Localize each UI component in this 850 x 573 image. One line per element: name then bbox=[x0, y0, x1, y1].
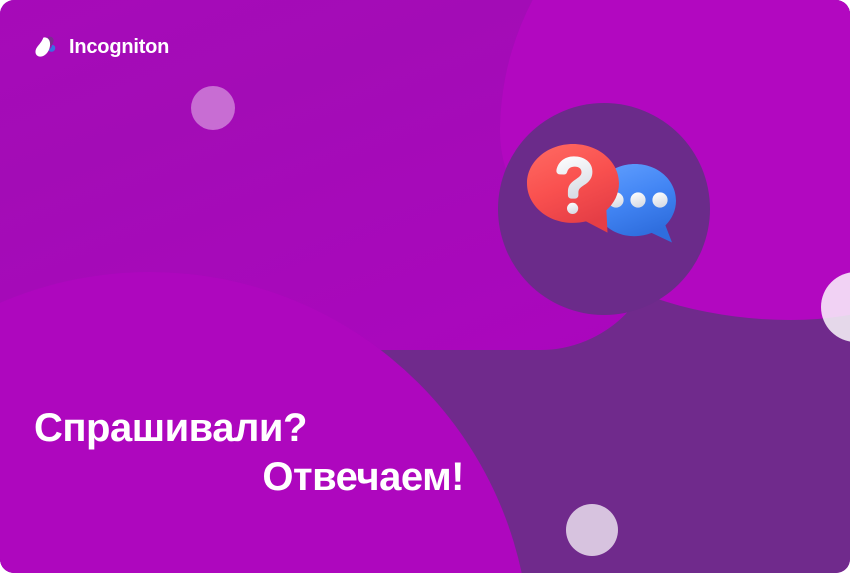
headline: Спрашивали? Отвечаем! bbox=[34, 404, 464, 502]
decorative-circle-bottom bbox=[566, 504, 618, 556]
brand-name: Incogniton bbox=[69, 37, 169, 57]
headline-line-1: Спрашивали? bbox=[34, 404, 464, 453]
question-mark-speech-bubble-icon bbox=[527, 144, 619, 233]
chat-bubbles-illustration bbox=[518, 138, 700, 268]
incogniton-logo-mark-icon bbox=[34, 34, 60, 60]
decorative-circle-top bbox=[191, 86, 235, 130]
decorative-circle-right-edge bbox=[821, 272, 850, 342]
headline-line-2: Отвечаем! bbox=[34, 453, 464, 502]
brand-logo[interactable]: Incogniton bbox=[34, 34, 169, 60]
promo-banner: Incogniton bbox=[0, 0, 850, 573]
